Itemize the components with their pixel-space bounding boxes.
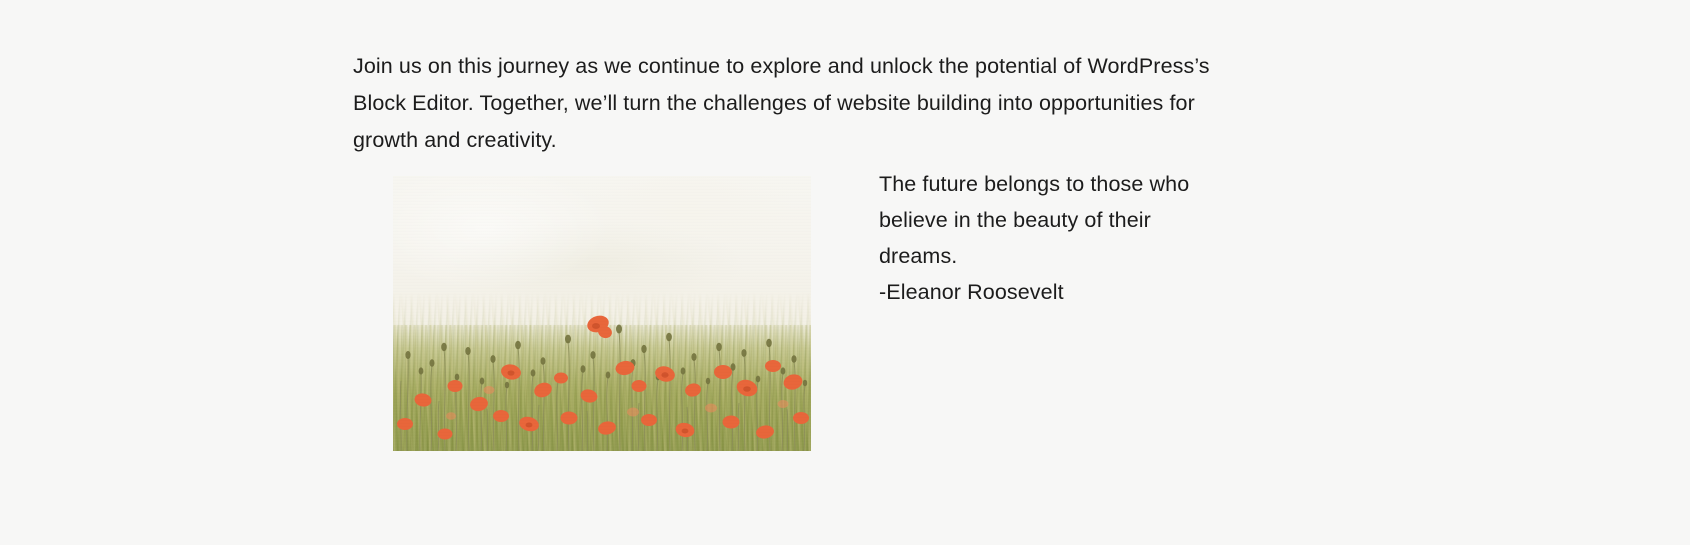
quote-attribution: -Eleanor Roosevelt	[879, 274, 1213, 310]
page-canvas: Join us on this journey as we continue t…	[0, 0, 1690, 545]
intro-paragraph: Join us on this journey as we continue t…	[353, 48, 1213, 159]
quote-column: The future belongs to those who believe …	[851, 160, 1213, 310]
poppy-flowers-layer	[393, 176, 811, 451]
quote-text: The future belongs to those who believe …	[879, 166, 1213, 274]
poppy-field-image	[393, 176, 811, 451]
media-and-text-block: The future belongs to those who believe …	[353, 160, 1213, 467]
